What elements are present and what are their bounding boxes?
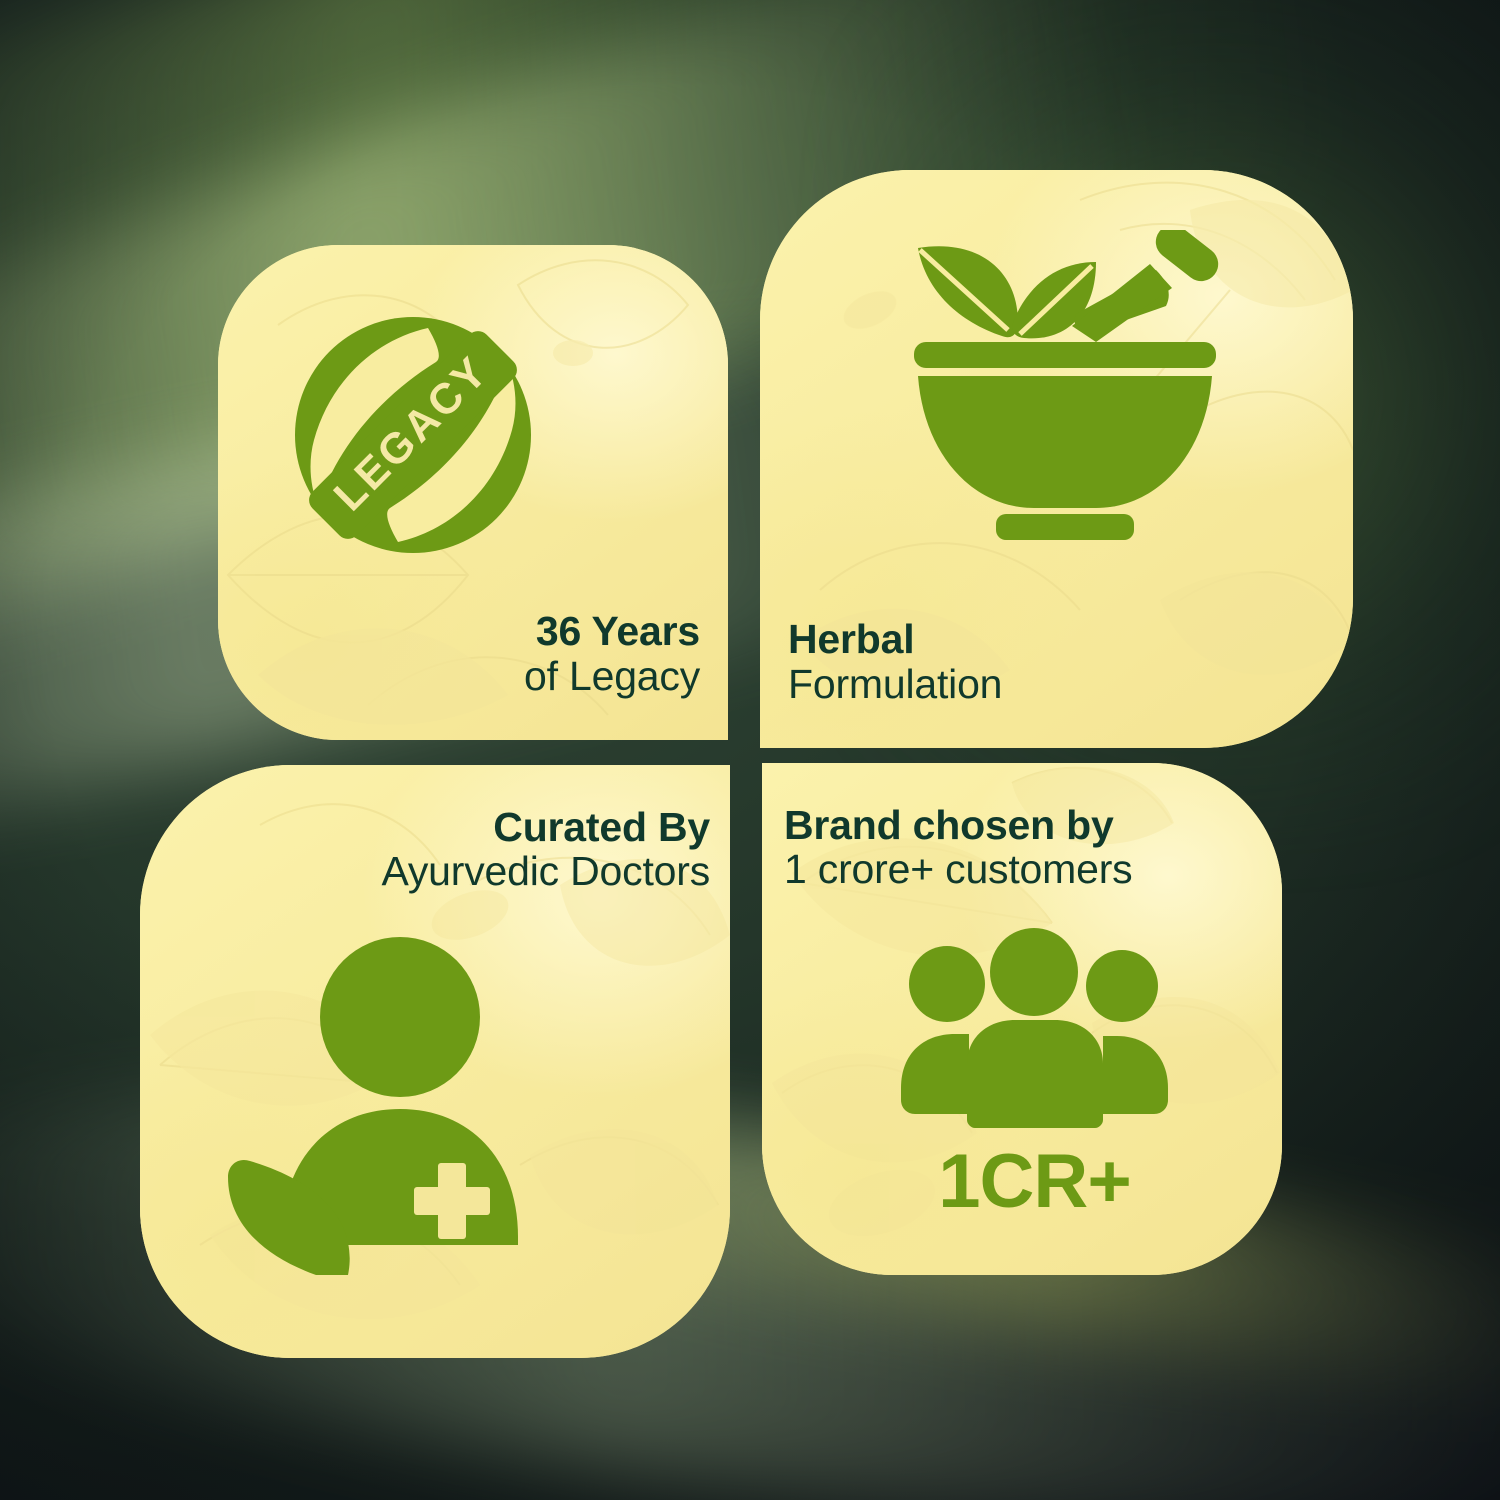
feature-caption-herbal: Herbal Formulation <box>788 617 1002 706</box>
caption-line-2: Formulation <box>788 662 1002 706</box>
feature-card-curated[interactable]: Curated By Ayurvedic Doctors <box>140 765 730 1358</box>
caption-line-2: Ayurvedic Doctors <box>381 849 710 893</box>
mortar-and-pestle-icon <box>900 230 1230 540</box>
caption-line-1: Curated By <box>381 805 710 849</box>
caption-line-1: Brand chosen by <box>784 803 1132 847</box>
caption-line-2: 1 crore+ customers <box>784 847 1132 891</box>
caption-line-1: Herbal <box>788 617 1002 661</box>
caption-line-2: of Legacy <box>524 654 700 698</box>
feature-card-customers[interactable]: 1CR+ Brand chosen by 1 crore+ customers <box>762 763 1282 1275</box>
caption-line-1: 36 Years <box>524 609 700 653</box>
customer-count-stat: 1CR+ <box>897 1138 1172 1225</box>
feature-caption-curated: Curated By Ayurvedic Doctors <box>381 805 710 894</box>
feature-caption-legacy: 36 Years of Legacy <box>524 609 700 698</box>
doctor-with-leaf-icon <box>220 925 570 1275</box>
group-of-people-icon <box>897 928 1172 1158</box>
promo-graphic: LEGACY 36 Years of Legacy <box>0 0 1500 1500</box>
feature-card-herbal[interactable]: Herbal Formulation <box>760 170 1353 748</box>
feature-card-legacy[interactable]: LEGACY 36 Years of Legacy <box>218 245 728 740</box>
feature-caption-customers: Brand chosen by 1 crore+ customers <box>784 803 1132 892</box>
legacy-badge-icon: LEGACY <box>278 300 548 570</box>
